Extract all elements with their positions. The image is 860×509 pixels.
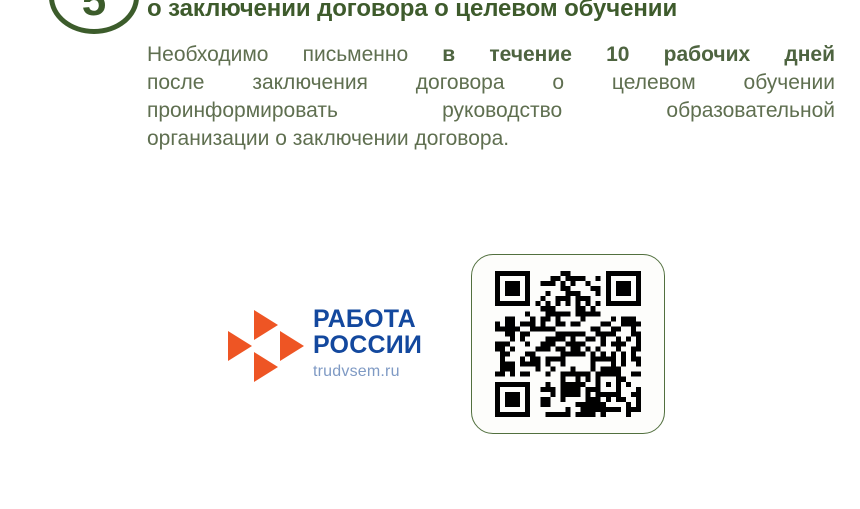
qr-code-image[interactable] [495,271,641,417]
logo-word-line-1: РАБОТА [313,306,438,332]
body-word: целевом [612,69,696,97]
logo-url-label: trudvsem.ru [313,363,438,381]
body-word-bold: 10 [606,41,629,69]
body-word: после [147,69,204,97]
body-word-bold: рабочих [664,41,751,69]
body-word-bold: в [442,41,455,69]
body-line-2: после заключения договора о целевом обуч… [147,69,835,97]
body-word: о [552,69,564,97]
body-paragraph: Необходимо письменно в течение 10 рабочи… [147,41,835,153]
body-line-1: Необходимо письменно в течение 10 рабочи… [147,41,835,69]
body-word: Необходимо [147,41,268,69]
body-word: договора [416,69,505,97]
body-line-3: проинформировать руководство образовател… [147,97,835,125]
logo-wordmark: РАБОТА РОССИИ trudvsem.ru [313,306,438,381]
slide-canvas: 5 о заключении договора о целевом обучен… [0,0,860,509]
logo-word-line-2: РОССИИ [313,332,438,358]
body-line-4: организации о заключении договора. [147,125,835,153]
body-word: образовательной [666,97,835,125]
body-word-bold: дней [784,41,835,69]
body-word: заключения [252,69,368,97]
page-title: о заключении договора о целевом обучении [147,0,837,24]
logo-triangles-icon [228,308,308,386]
rabota-rossii-logo: РАБОТА РОССИИ trudvsem.ru [228,306,434,394]
body-word: письменно [303,41,409,69]
step-number-label: 5 [82,0,106,23]
body-word-bold: течение [489,41,572,69]
body-word: проинформировать [147,97,338,125]
qr-code-card[interactable] [471,254,665,434]
step-number-badge: 5 [49,0,139,34]
body-word: руководство [442,97,562,125]
body-word: обучении [744,69,835,97]
